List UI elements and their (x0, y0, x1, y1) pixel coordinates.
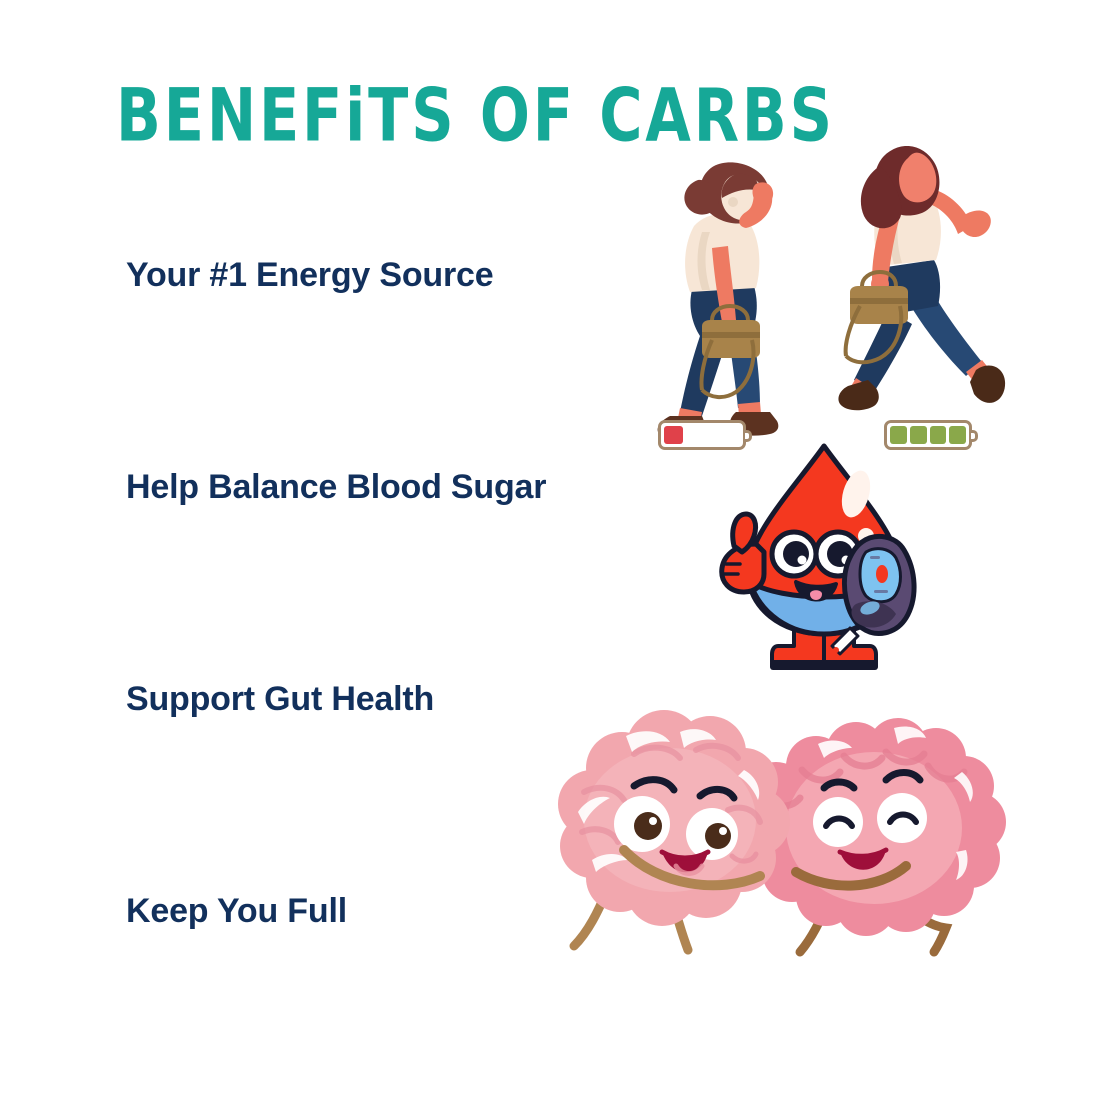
blood-drop-illustration (690, 432, 960, 682)
blood-drop-thumbs-up-hand (722, 514, 764, 592)
battery-cell-filled (664, 426, 683, 444)
benefit-item-gut-health: Support Gut Health (126, 680, 434, 719)
benefit-item-keep-full: Keep You Full (126, 892, 347, 931)
brain-character (558, 710, 790, 950)
benefit-item-blood-sugar: Help Balance Blood Sugar (126, 468, 546, 507)
gut-health-illustration (530, 700, 1030, 980)
infographic-canvas: BENEFiTS OF CARBS Your #1 Energy Source … (0, 0, 1120, 1120)
benefit-item-energy: Your #1 Energy Source (126, 256, 493, 295)
energy-comparison-illustration (640, 140, 1040, 450)
energetic-woman-figure (838, 146, 1005, 410)
meter-drop-icon (876, 565, 888, 583)
tired-woman-figure (658, 162, 779, 438)
